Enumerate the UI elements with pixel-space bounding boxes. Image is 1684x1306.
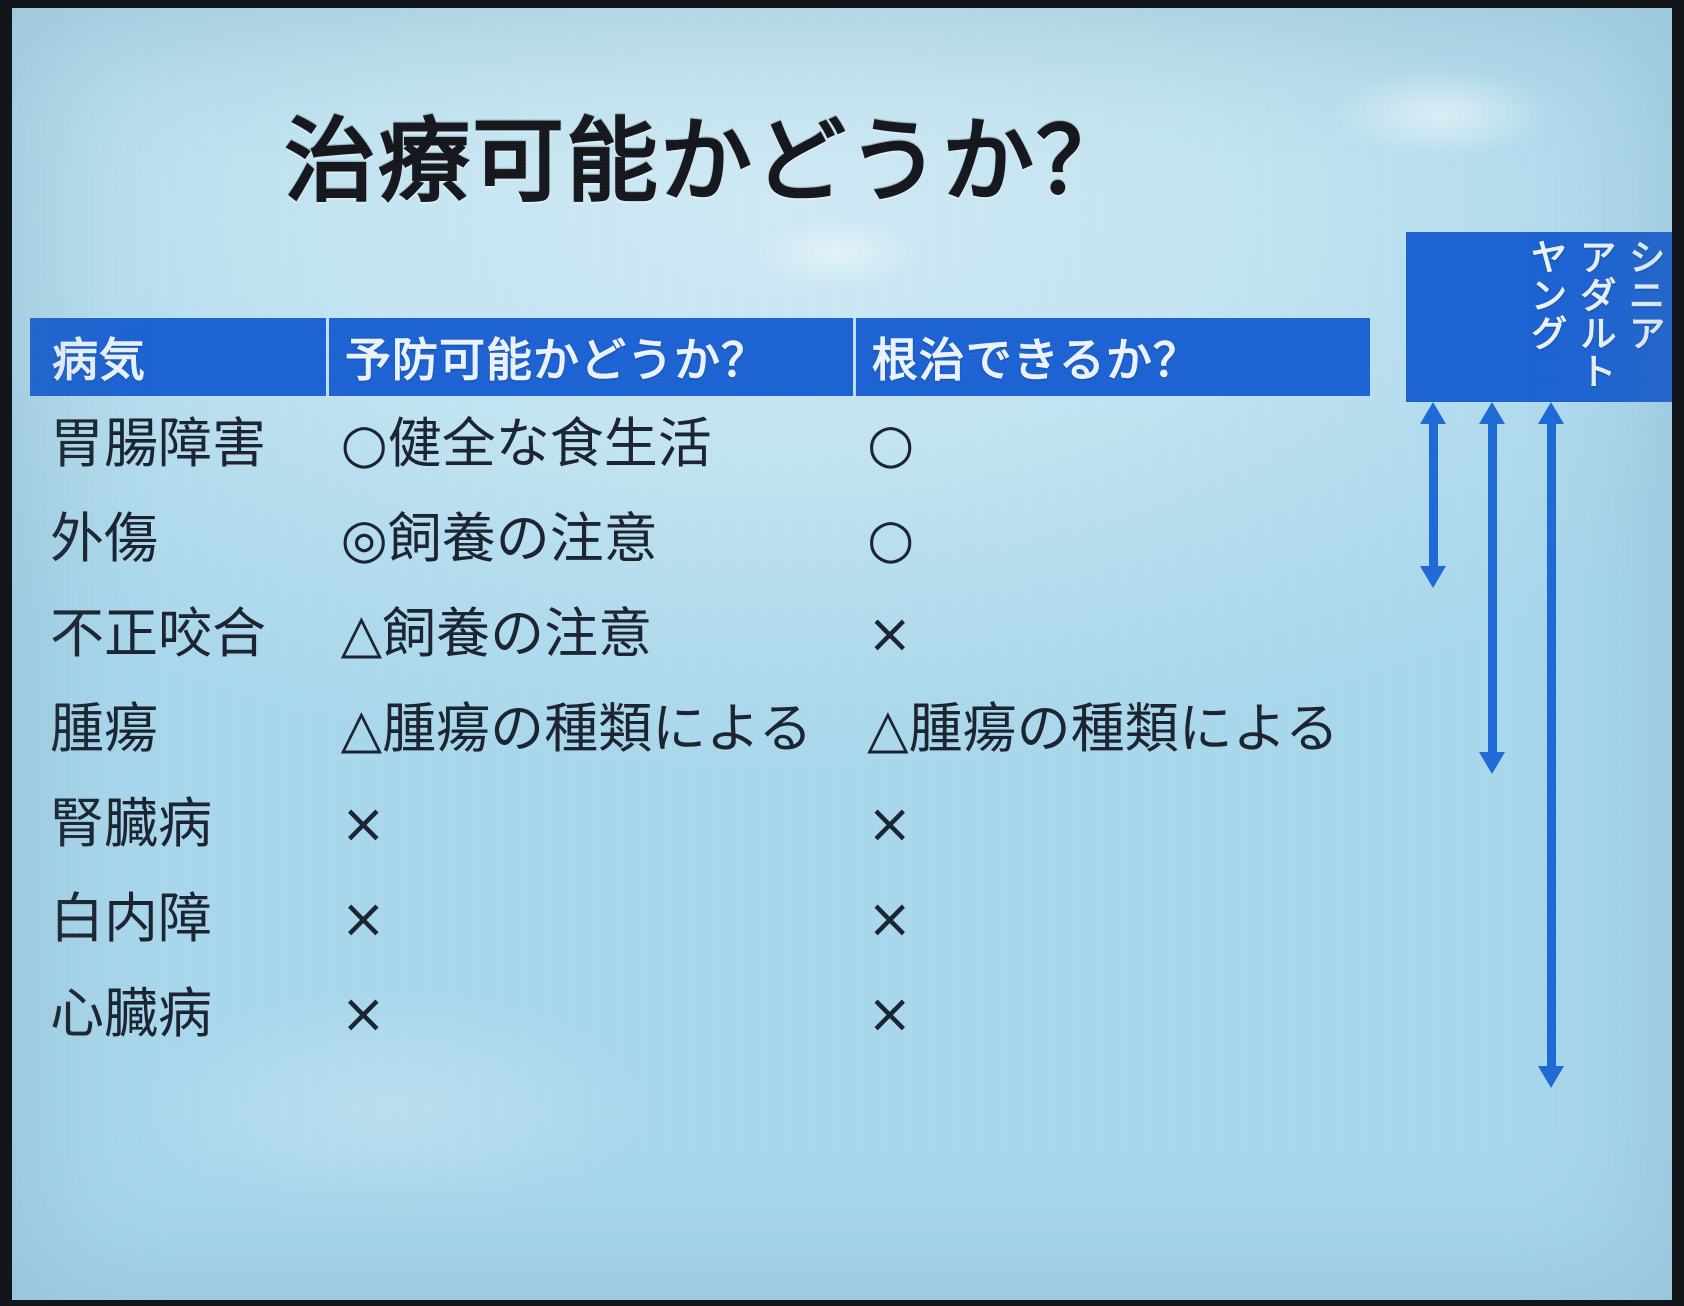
cell-disease: 腎臓病 (30, 797, 327, 851)
cell-curable: × (853, 892, 1370, 946)
cell-disease: 白内障 (30, 892, 327, 946)
arrow-shaft (1429, 420, 1438, 570)
cell-curable: × (853, 607, 1370, 661)
presentation-slide: 治療可能かどうか？ 病気 予防可能かどうか？ 根治できるか？ 胃腸障害 ○健全な… (12, 8, 1672, 1300)
column-header-curable: 根治できるか？ (853, 318, 1370, 396)
table-row: 胃腸障害 ○健全な食生活 ○ (30, 396, 1370, 491)
table-header-row: 病気 予防可能かどうか？ 根治できるか？ (30, 318, 1370, 396)
age-label-young: ヤング (1521, 238, 1570, 402)
table-row: 不正咬合 △飼養の注意 × (30, 586, 1370, 681)
arrow-head-down-icon (1538, 1066, 1564, 1088)
cell-curable: × (853, 987, 1370, 1041)
cell-preventable: ◎飼養の注意 (327, 512, 854, 566)
cell-curable: ○ (853, 512, 1370, 566)
cell-preventable: △腫瘍の種類による (327, 702, 854, 756)
age-arrow-senior (1538, 402, 1564, 1088)
cell-preventable: × (327, 987, 854, 1041)
age-range-arrows (1406, 402, 1672, 1102)
arrow-head-down-icon (1479, 752, 1505, 774)
cell-preventable: × (327, 892, 854, 946)
column-header-preventable: 予防可能かどうか？ (326, 318, 853, 396)
age-arrow-adult (1479, 402, 1505, 774)
cell-preventable: × (327, 797, 854, 851)
table-row: 心臓病 × × (30, 966, 1370, 1061)
cell-preventable: △飼養の注意 (327, 607, 854, 661)
table-row: 腫瘍 △腫瘍の種類による △腫瘍の種類による (30, 681, 1370, 776)
slide-photo: 治療可能かどうか？ 病気 予防可能かどうか？ 根治できるか？ 胃腸障害 ○健全な… (0, 0, 1684, 1306)
cell-disease: 心臓病 (30, 987, 327, 1041)
cell-disease: 胃腸障害 (30, 417, 327, 471)
cell-disease: 外傷 (30, 512, 327, 566)
arrow-head-down-icon (1420, 566, 1446, 588)
cell-curable: △腫瘍の種類による (853, 702, 1370, 756)
projector-glare-center (752, 218, 922, 288)
table-row: 白内障 × × (30, 871, 1370, 966)
page-title: 治療可能かどうか？ (12, 116, 1402, 208)
age-arrow-young (1420, 402, 1446, 588)
table-row: 腎臓病 × × (30, 776, 1370, 871)
disease-table: 病気 予防可能かどうか？ 根治できるか？ 胃腸障害 ○健全な食生活 ○ 外傷 ◎… (30, 318, 1370, 1061)
column-header-disease: 病気 (30, 318, 326, 396)
table-row: 外傷 ◎飼養の注意 ○ (30, 491, 1370, 586)
arrow-shaft (1547, 420, 1556, 1070)
age-label-senior: シニア (1619, 238, 1668, 402)
cell-curable: × (853, 797, 1370, 851)
age-group-legend: シニア アダルト ヤング (1406, 232, 1672, 402)
cell-disease: 腫瘍 (30, 702, 327, 756)
age-label-adult: アダルト (1570, 238, 1619, 402)
cell-preventable: ○健全な食生活 (327, 417, 854, 471)
arrow-shaft (1488, 420, 1497, 756)
cell-disease: 不正咬合 (30, 607, 327, 661)
cell-curable: ○ (853, 417, 1370, 471)
